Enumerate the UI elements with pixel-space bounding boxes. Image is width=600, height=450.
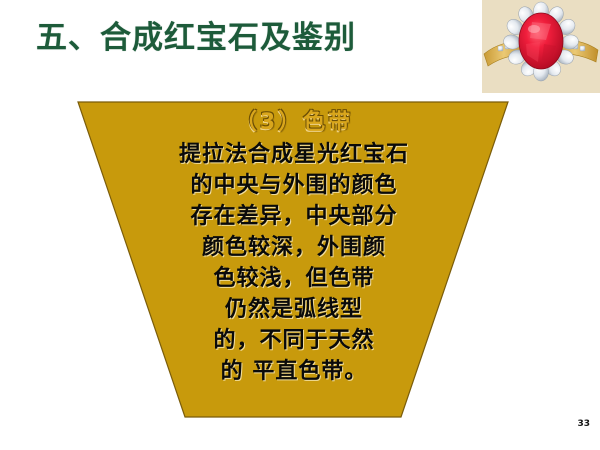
ruby-ring-illustration (482, 0, 600, 93)
page-number: 33 (577, 419, 590, 429)
page-title: 五、合成红宝石及鉴别 (36, 15, 456, 65)
panel-line-7: 的，不同于天然 (70, 325, 518, 356)
panel-line-3: 存在差异，中央部分 (70, 201, 518, 232)
ruby-ring-photo (482, 0, 600, 93)
color-band-panel: （3）色带 提拉法合成星光红宝石 的中央与外围的颜色 存在差异，中央部分 颜色较… (70, 98, 518, 423)
panel-text-block: （3）色带 提拉法合成星光红宝石 的中央与外围的颜色 存在差异，中央部分 颜色较… (70, 98, 518, 423)
panel-line-1: 提拉法合成星光红宝石 (70, 139, 518, 170)
panel-line-4: 颜色较深，外围颜 (70, 232, 518, 263)
panel-line-2: 的中央与外围的颜色 (70, 170, 518, 201)
panel-heading: （3）色带 (70, 107, 518, 139)
panel-line-6: 仍然是弧线型 (70, 294, 518, 325)
panel-line-5: 色较浅，但色带 (70, 263, 518, 294)
panel-line-8: 的 平直色带。 (70, 356, 518, 387)
presentation-slide: 五、合成红宝石及鉴别 (0, 0, 600, 450)
